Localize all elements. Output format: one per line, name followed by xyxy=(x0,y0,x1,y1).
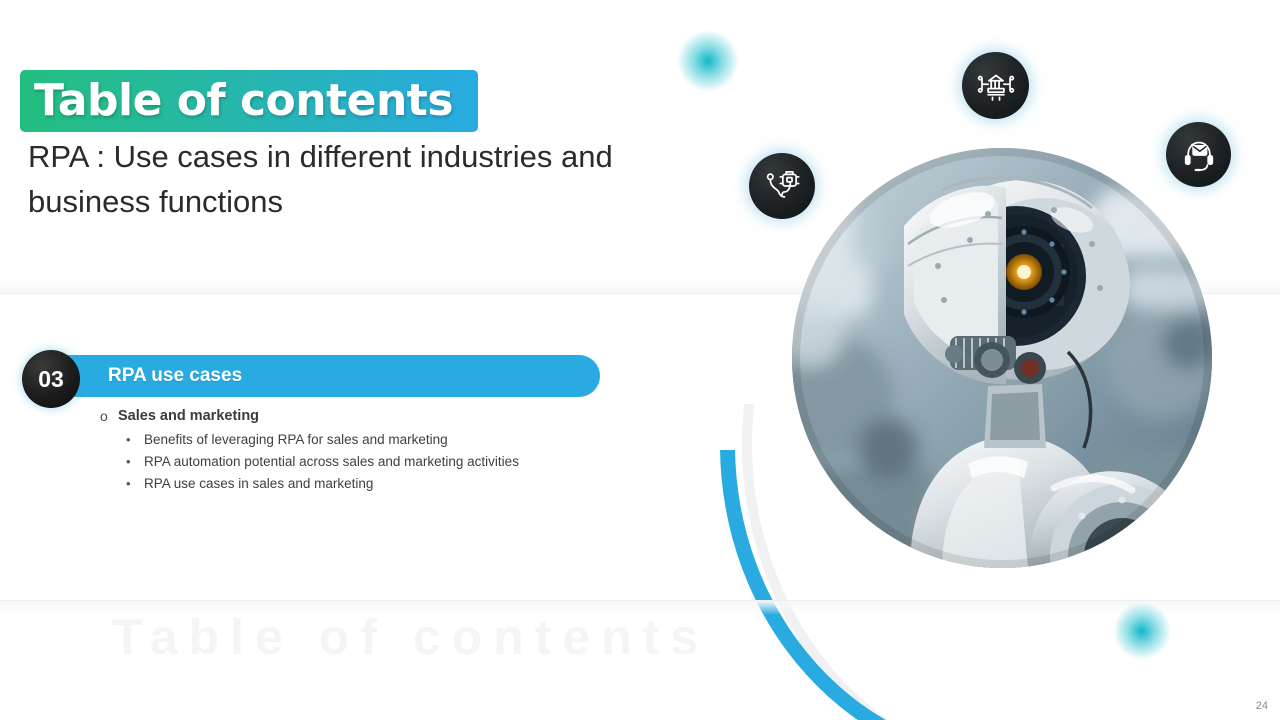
divider-bottom xyxy=(0,600,1280,601)
bullet-icon: • xyxy=(126,451,144,472)
page-number: 24 xyxy=(1256,700,1268,712)
page-title: Table of contents xyxy=(20,79,453,123)
section-bar[interactable]: RPA use cases xyxy=(46,355,600,397)
section-number: 03 xyxy=(38,366,64,393)
background-watermark: Table of contents xyxy=(112,608,709,666)
page-subtitle: RPA : Use cases in different industries … xyxy=(28,135,738,225)
group-marker-icon: o xyxy=(100,406,118,426)
group-label: Sales and marketing xyxy=(118,406,259,426)
list-item[interactable]: • RPA automation potential across sales … xyxy=(126,451,720,472)
section-number-badge: 03 xyxy=(22,350,80,408)
list-item[interactable]: • RPA use cases in sales and marketing xyxy=(126,473,720,494)
list-item-label: RPA use cases in sales and marketing xyxy=(144,473,373,494)
customer-support-headset-icon xyxy=(1166,122,1231,187)
list-group: o Sales and marketing xyxy=(100,406,720,426)
bullet-icon: • xyxy=(126,429,144,450)
section-content-list: o Sales and marketing • Benefits of leve… xyxy=(100,406,720,495)
list-item-label: Benefits of leveraging RPA for sales and… xyxy=(144,429,448,450)
teal-glow-dot-bottom xyxy=(1113,602,1171,660)
hero-robot-image xyxy=(792,148,1212,568)
slide-canvas: Table of contents RPA : Use cases in dif… xyxy=(0,0,1280,720)
list-item-label: RPA automation potential across sales an… xyxy=(144,451,519,472)
bank-automation-icon xyxy=(962,52,1029,119)
healthcare-stethoscope-icon xyxy=(749,153,815,219)
page-title-chip: Table of contents xyxy=(20,70,478,132)
list-item[interactable]: • Benefits of leveraging RPA for sales a… xyxy=(126,429,720,450)
teal-glow-dot-top xyxy=(677,30,739,92)
bullet-icon: • xyxy=(126,473,144,494)
